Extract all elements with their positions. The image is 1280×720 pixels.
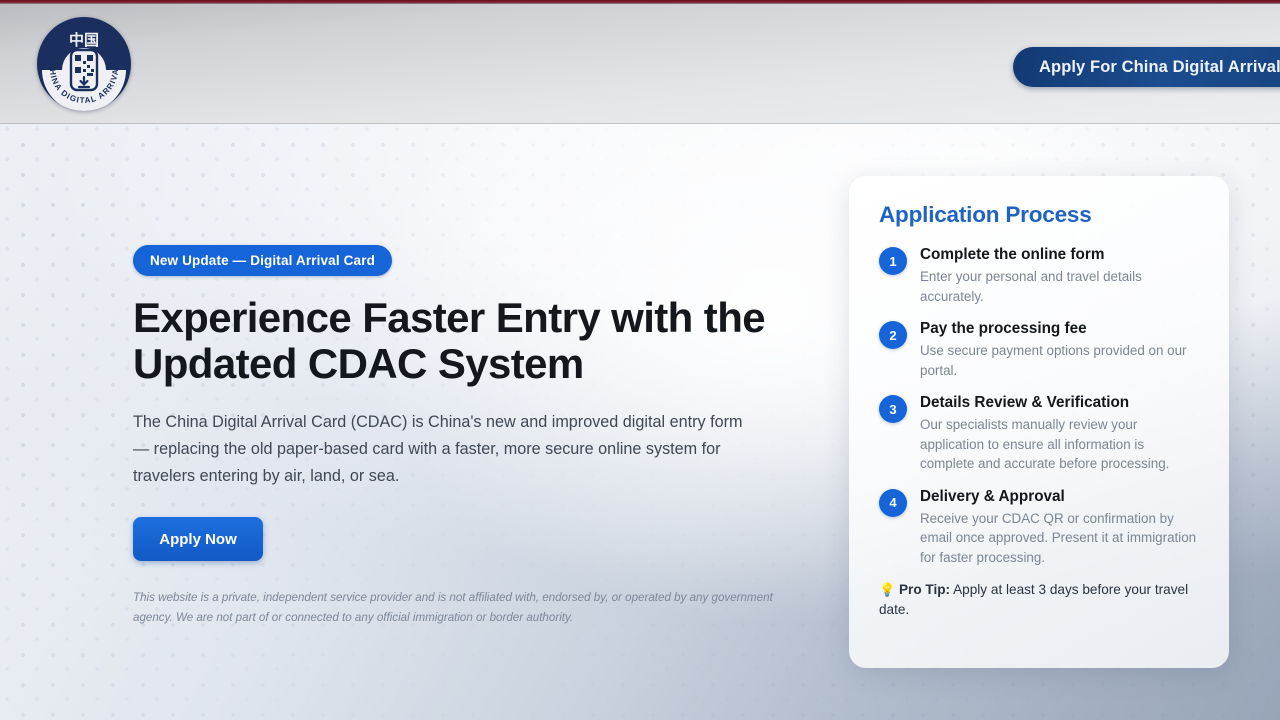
step-description: Our specialists manually review your app… — [920, 415, 1199, 474]
step-description: Receive your CDAC QR or confirmation by … — [920, 509, 1199, 568]
application-process-title: Application Process — [879, 202, 1199, 228]
step-description: Enter your personal and travel details a… — [920, 267, 1199, 306]
step-body: Pay the processing fee Use secure paymen… — [920, 318, 1199, 380]
process-step: 2 Pay the processing fee Use secure paym… — [879, 318, 1199, 380]
step-body: Delivery & Approval Receive your CDAC QR… — [920, 486, 1199, 568]
process-step: 4 Delivery & Approval Receive your CDAC … — [879, 486, 1199, 568]
page-title: Experience Faster Entry with the Updated… — [133, 295, 773, 387]
process-step: 1 Complete the online form Enter your pe… — [879, 244, 1199, 306]
application-process-card: Application Process 1 Complete the onlin… — [849, 176, 1229, 668]
step-title: Details Review & Verification — [920, 392, 1199, 413]
lightbulb-icon: 💡 — [879, 582, 895, 597]
site-header: 中国 CHINA DIGITAL ARRIVAL Appl — [0, 4, 1280, 124]
top-accent-rule — [0, 0, 1280, 4]
step-title: Complete the online form — [920, 244, 1199, 265]
hero-description: The China Digital Arrival Card (CDAC) is… — [133, 409, 761, 490]
process-step: 3 Details Review & Verification Our spec… — [879, 392, 1199, 474]
step-title: Delivery & Approval — [920, 486, 1199, 507]
step-number-badge: 1 — [879, 247, 907, 275]
page-root: 中国 CHINA DIGITAL ARRIVAL Appl — [0, 0, 1280, 720]
step-number-badge: 4 — [879, 489, 907, 517]
step-body: Details Review & Verification Our specia… — [920, 392, 1199, 474]
china-digital-arrival-badge-icon[interactable]: 中国 CHINA DIGITAL ARRIVAL — [37, 17, 131, 111]
header-apply-cta-button[interactable]: Apply For China Digital Arrival Card — [1013, 47, 1280, 87]
step-number-badge: 3 — [879, 395, 907, 423]
step-body: Complete the online form Enter your pers… — [920, 244, 1199, 306]
step-title: Pay the processing fee — [920, 318, 1199, 339]
svg-text:中国: 中国 — [69, 31, 99, 49]
pro-tip-label: Pro Tip: — [899, 582, 950, 597]
step-description: Use secure payment options provided on o… — [920, 341, 1199, 380]
hero-content: New Update — Digital Arrival Card Experi… — [133, 245, 793, 627]
disclaimer-text: This website is a private, independent s… — [133, 588, 778, 627]
new-update-badge[interactable]: New Update — Digital Arrival Card — [133, 245, 392, 276]
apply-now-button[interactable]: Apply Now — [133, 517, 263, 561]
step-number-badge: 2 — [879, 321, 907, 349]
pro-tip-note: 💡 Pro Tip: Apply at least 3 days before … — [879, 580, 1199, 619]
